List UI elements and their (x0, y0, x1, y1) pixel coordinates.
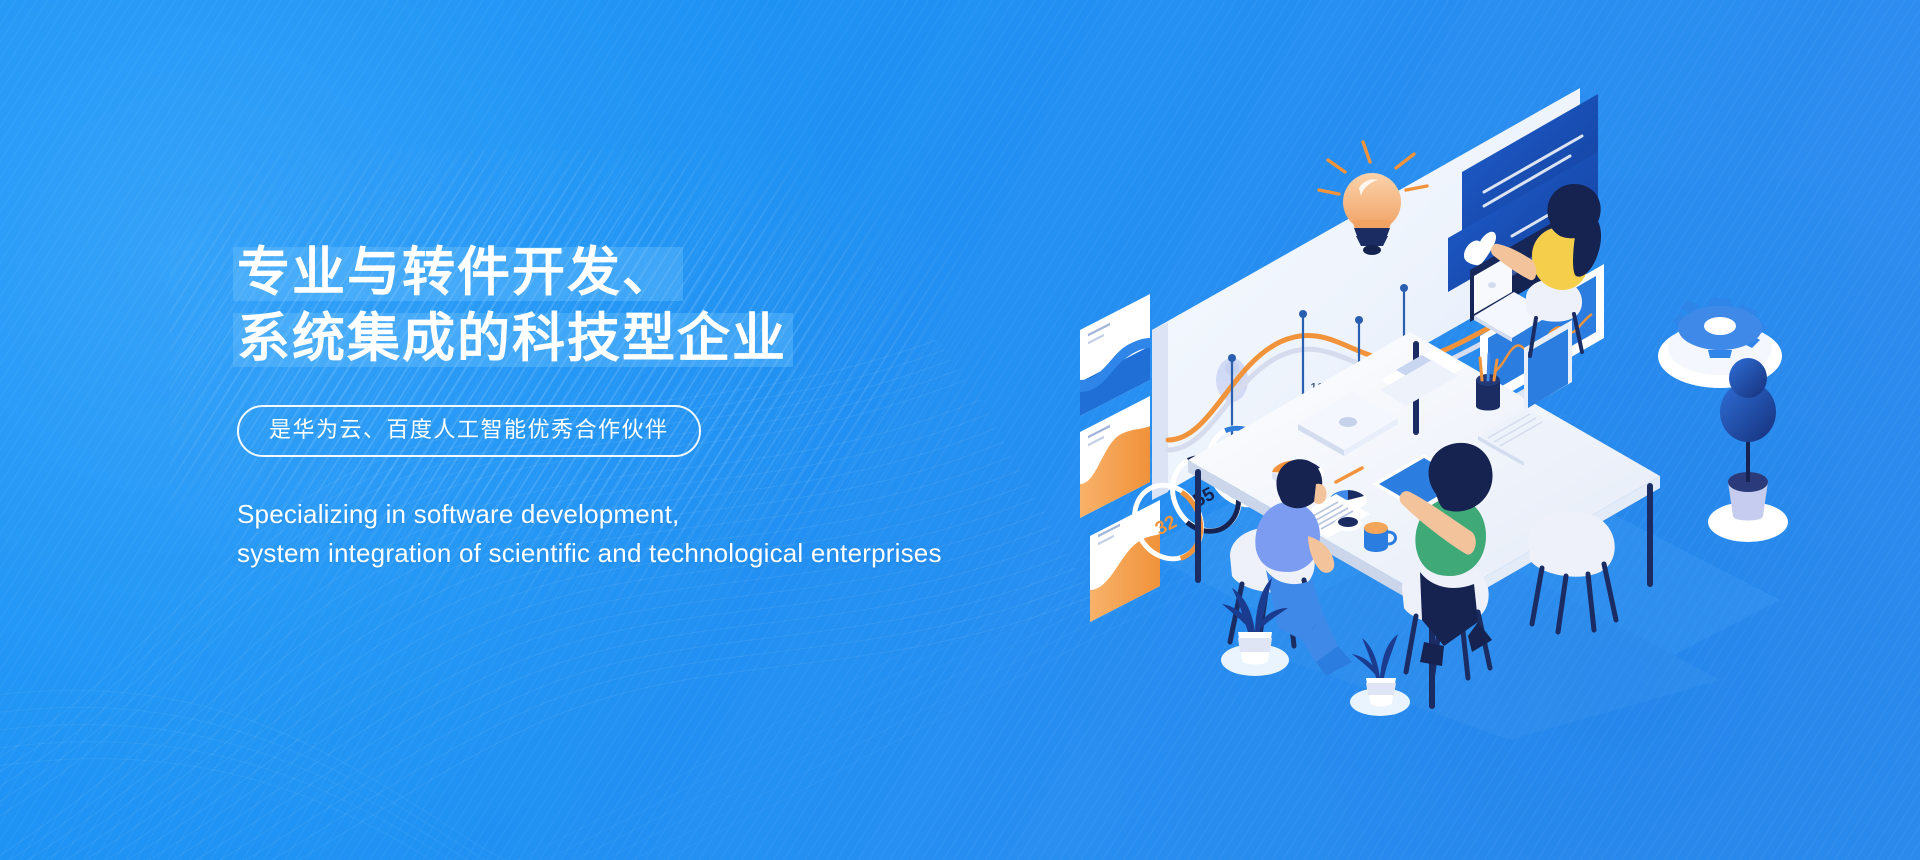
hero-illustration: 65 123 97 81 (1080, 80, 1900, 740)
pencil-cup-icon (1476, 354, 1500, 411)
page-title: 专业与转件开发、 系统集成的科技型企业 (237, 240, 1137, 372)
bowl-icon (1334, 517, 1362, 531)
hero-copy: 专业与转件开发、 系统集成的科技型企业 是华为云、百度人工智能优秀合作伙伴 Sp… (237, 240, 1137, 573)
partner-badge[interactable]: 是华为云、百度人工智能优秀合作伙伴 (237, 405, 701, 457)
headline-line-2: 系统集成的科技型企业 (237, 306, 787, 372)
subtitle-line-2: system integration of scientific and tec… (237, 534, 1137, 573)
hero-subtitle: Specializing in software development, sy… (237, 495, 1137, 573)
subtitle-line-1: Specializing in software development, (237, 495, 1137, 534)
isometric-office-scene: 65 123 97 81 (1080, 80, 1900, 740)
hero-banner: 专业与转件开发、 系统集成的科技型企业 是华为云、百度人工智能优秀合作伙伴 Sp… (0, 0, 1920, 860)
headline-line-1: 专业与转件开发、 (237, 240, 677, 306)
